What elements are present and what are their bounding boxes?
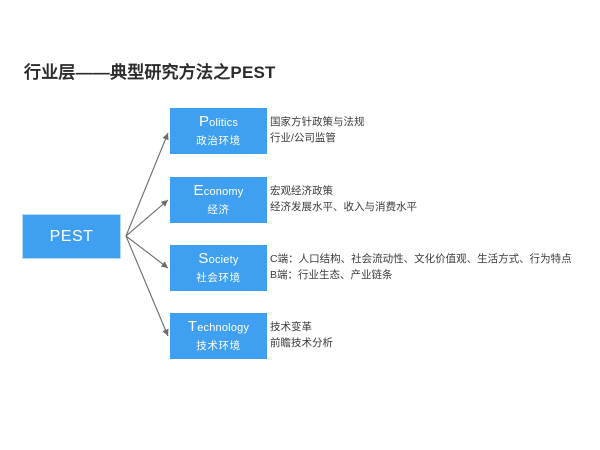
slide-canvas: 行业层——典型研究方法之PEST PEST Politics 政治环境 Econ… bbox=[0, 0, 600, 450]
branch-initial-t: T bbox=[188, 318, 197, 335]
description-line: 宏观经济政策 bbox=[270, 183, 417, 199]
branch-label-cn: 社会环境 bbox=[196, 270, 240, 285]
branch-label-en: Society bbox=[198, 251, 238, 267]
description-line: 技术变革 bbox=[270, 319, 333, 335]
branch-en-rest: conomy bbox=[204, 186, 244, 198]
branch-node-society[interactable]: Society 社会环境 bbox=[170, 245, 267, 291]
description-line: B端：行业生态、产业链条 bbox=[270, 267, 572, 283]
description-line: 国家方针政策与法规 bbox=[270, 114, 365, 130]
branch-label-en: Politics bbox=[199, 114, 238, 130]
connector-to-politics bbox=[126, 133, 168, 236]
branch-initial-s: S bbox=[198, 250, 208, 267]
branch-en-rest: olitics bbox=[209, 117, 238, 129]
description-line: C端：人口结构、社会流动性、文化价值观、生活方式、行为特点 bbox=[270, 251, 572, 267]
description-line: 前瞻技术分析 bbox=[270, 335, 333, 351]
description-technology: 技术变革 前瞻技术分析 bbox=[270, 319, 333, 351]
branch-initial-p: P bbox=[199, 113, 209, 130]
description-economy: 宏观经济政策 经济发展水平、收入与消费水平 bbox=[270, 183, 417, 215]
branch-label-en: Economy bbox=[194, 183, 244, 199]
description-line: 行业/公司监管 bbox=[270, 130, 365, 146]
connector-to-economy bbox=[126, 200, 168, 236]
connector-to-technology bbox=[126, 236, 168, 336]
branch-node-economy[interactable]: Economy 经济 bbox=[170, 177, 267, 223]
branch-label-cn: 经济 bbox=[207, 202, 229, 217]
branch-en-rest: ociety bbox=[209, 254, 239, 266]
description-line: 经济发展水平、收入与消费水平 bbox=[270, 199, 417, 215]
root-node-label: PEST bbox=[50, 228, 94, 246]
branch-node-technology[interactable]: Technology 技术环境 bbox=[170, 313, 267, 359]
description-politics: 国家方针政策与法规 行业/公司监管 bbox=[270, 114, 365, 146]
root-node-pest[interactable]: PEST bbox=[22, 214, 121, 259]
branch-node-politics[interactable]: Politics 政治环境 bbox=[170, 108, 267, 154]
branch-initial-e: E bbox=[194, 182, 204, 199]
branch-label-en: Technology bbox=[188, 319, 249, 335]
branch-label-cn: 政治环境 bbox=[196, 133, 240, 148]
branch-label-cn: 技术环境 bbox=[196, 338, 240, 353]
branch-en-rest: echnology bbox=[197, 322, 249, 334]
description-society: C端：人口结构、社会流动性、文化价值观、生活方式、行为特点 B端：行业生态、产业… bbox=[270, 251, 572, 283]
